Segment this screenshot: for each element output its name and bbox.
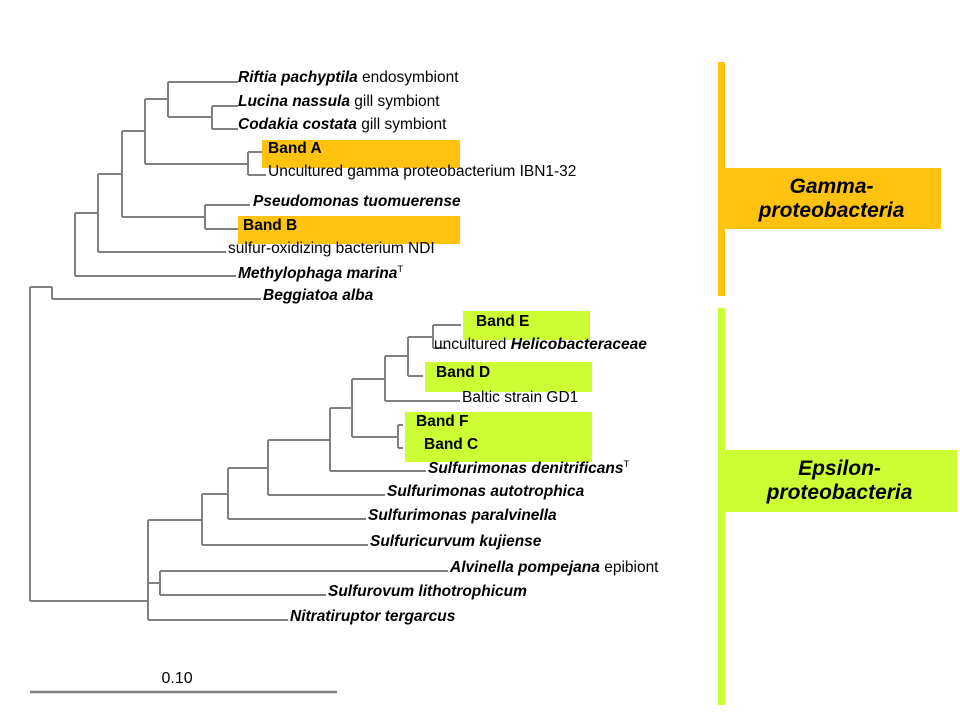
taxon-text-fragment: Band A <box>268 140 322 157</box>
scale-bar-label: 0.10 <box>162 670 193 688</box>
taxon-label-beggiatoa: Beggiatoa alba <box>263 288 373 304</box>
taxon-label-s-paralvinella: Sulfurimonas paralvinella <box>368 508 557 524</box>
taxon-text-fragment: Band C <box>424 436 478 453</box>
taxon-text-fragment: Sulfurovum lithotrophicum <box>328 583 527 600</box>
taxon-label-band-c: Band C <box>424 437 478 453</box>
taxon-text-fragment: Baltic strain GD1 <box>462 389 578 406</box>
taxon-label-helicobacteraceae: uncultured Helicobacteraceae <box>434 337 647 353</box>
taxon-label-ndi: sulfur-oxidizing bacterium NDI <box>228 241 435 257</box>
taxon-label-alvinella: Alvinella pompejana epibiont <box>450 560 659 576</box>
taxon-label-band-e: Band E <box>476 314 529 330</box>
taxon-text-fragment: Sulfuricurvum kujiense <box>370 533 541 550</box>
taxon-text-fragment: Sulfurimonas paralvinella <box>368 507 557 524</box>
taxon-label-pseudomonas: Pseudomonas tuomuerense <box>253 194 461 210</box>
taxon-text-fragment: Riftia pachyptila <box>238 69 358 86</box>
taxon-label-s-denitrificans: Sulfurimonas denitrificansT <box>428 460 629 477</box>
taxon-text-fragment: Helicobacteraceae <box>511 336 647 353</box>
taxon-label-methylophaga: Methylophaga marinaT <box>238 265 403 282</box>
taxon-text-fragment: Methylophaga marina <box>238 265 397 282</box>
taxon-text-fragment: Nitratiruptor tergarcus <box>290 608 455 625</box>
taxon-text-fragment: gill symbiont <box>350 93 440 110</box>
taxon-text-fragment: Band D <box>436 364 490 381</box>
taxon-label-s-autotrophica: Sulfurimonas autotrophica <box>387 484 584 500</box>
taxon-label-baltic-gd1: Baltic strain GD1 <box>462 390 578 406</box>
taxon-text-fragment: Lucina nassula <box>238 93 350 110</box>
taxon-label-lucina: Lucina nassula gill symbiont <box>238 94 440 110</box>
taxon-text-fragment: T <box>624 459 630 470</box>
group-label-epsilon: Epsilon-proteobacteria <box>722 450 957 512</box>
group-label-text: Gamma-proteobacteria <box>759 175 905 222</box>
taxon-text-fragment: Alvinella pompejana <box>450 559 600 576</box>
taxon-label-codakia: Codakia costata gill symbiont <box>238 117 446 133</box>
taxon-label-nitratiruptor: Nitratiruptor tergarcus <box>290 609 455 625</box>
taxon-label-band-a: Band A <box>268 141 322 157</box>
taxon-label-band-d: Band D <box>436 365 490 381</box>
taxon-text-fragment: Codakia costata <box>238 116 357 133</box>
taxon-text-fragment: Pseudomonas tuomuerense <box>253 193 461 210</box>
taxon-text-fragment: Beggiatoa alba <box>263 287 373 304</box>
taxon-label-ibn132: Uncultured gamma proteobacterium IBN1-32 <box>268 164 576 180</box>
taxon-text-fragment: Sulfurimonas autotrophica <box>387 483 584 500</box>
taxon-text-fragment: Band F <box>416 413 469 430</box>
taxon-text-fragment: epibiont <box>600 559 659 576</box>
taxon-label-s-lithotrophicum: Sulfurovum lithotrophicum <box>328 584 527 600</box>
figure-canvas: Riftia pachyptila endosymbiontLucina nas… <box>0 0 960 720</box>
taxon-text-fragment: Sulfurimonas denitrificans <box>428 460 624 477</box>
phylogenetic-tree-branches <box>0 0 960 720</box>
taxon-label-band-f: Band F <box>416 414 469 430</box>
taxon-text-fragment: gill symbiont <box>357 116 447 133</box>
group-label-text: Epsilon-proteobacteria <box>767 457 913 504</box>
taxon-text-fragment: Uncultured gamma proteobacterium IBN1-32 <box>268 163 576 180</box>
taxon-text-fragment: Band E <box>476 313 529 330</box>
taxon-label-s-kujiense: Sulfuricurvum kujiense <box>370 534 541 550</box>
taxon-text-fragment: T <box>397 264 403 275</box>
taxon-text-fragment: sulfur-oxidizing bacterium NDI <box>228 240 435 257</box>
taxon-text-fragment: endosymbiont <box>358 69 459 86</box>
taxon-text-fragment: Band B <box>243 217 297 234</box>
taxon-text-fragment: uncultured <box>434 336 511 353</box>
taxon-label-band-b: Band B <box>243 218 297 234</box>
taxon-label-riftia: Riftia pachyptila endosymbiont <box>238 70 459 86</box>
group-label-gamma: Gamma-proteobacteria <box>722 168 941 229</box>
